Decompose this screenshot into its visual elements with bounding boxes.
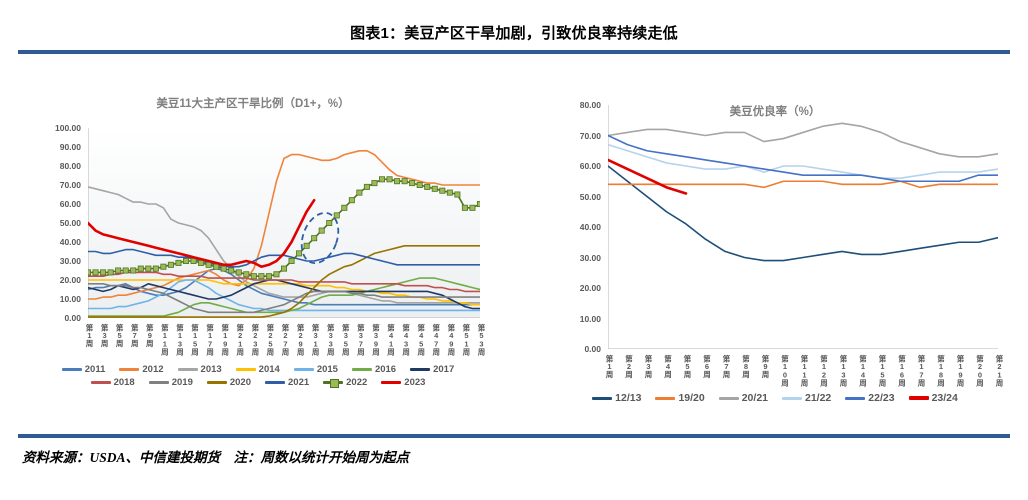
legend-item-2016[interactable]: 2016 xyxy=(352,364,396,375)
y-tick-label: 70.00 xyxy=(18,180,81,190)
legend-swatch-icon xyxy=(381,381,401,385)
x-tick-label: 第17周 xyxy=(916,355,927,386)
x-tick-label: 第3周 xyxy=(643,355,654,378)
y-tick-label: 0.00 xyxy=(540,344,601,354)
legend-item-2013[interactable]: 2013 xyxy=(178,364,222,375)
x-tick-label: 第5周 xyxy=(114,324,125,347)
legend-label: 2015 xyxy=(317,364,338,375)
legend-item-2011[interactable]: 2011 xyxy=(62,364,106,375)
x-tick-label: 第20周 xyxy=(975,355,986,386)
x-tick-label: 第18周 xyxy=(936,355,947,386)
source-note: 资料来源：USDA、中信建投期货 注：周数以统计开始周为起点 xyxy=(22,446,409,466)
y-tick-label: 80.00 xyxy=(540,100,601,110)
legend-label: 2016 xyxy=(375,364,396,375)
footer-divider xyxy=(18,434,1010,438)
x-tick-label: 第15周 xyxy=(877,355,888,386)
x-tick-label: 第37周 xyxy=(355,324,366,355)
y-tick-label: 90.00 xyxy=(18,142,81,152)
chart-good-excellent-rate: 美豆优良率（%） 0.0010.0020.0030.0040.0050.0060… xyxy=(540,95,1010,405)
y-tick-label: 10.00 xyxy=(18,294,81,304)
x-tick-label: 第21周 xyxy=(994,355,1005,386)
legend-item-2019[interactable]: 2019 xyxy=(149,377,193,388)
x-tick-label: 第13周 xyxy=(838,355,849,386)
title-divider-top xyxy=(18,50,1010,54)
x-tick-label: 第9周 xyxy=(144,324,155,347)
x-tick-label: 第13周 xyxy=(174,324,185,355)
x-tick-label: 第16周 xyxy=(897,355,908,386)
x-tick-label: 第6周 xyxy=(702,355,713,378)
y-tick-label: 40.00 xyxy=(540,222,601,232)
x-tick-label: 第11周 xyxy=(159,324,170,355)
y-tick-label: 30.00 xyxy=(540,253,601,263)
legend-swatch-icon xyxy=(352,368,372,371)
x-tick-label: 第8周 xyxy=(741,355,752,378)
figure-page: 图表1：美豆产区干旱加剧，引致优良率持续走低 美豆11大主产区干旱比例（D1+，… xyxy=(0,0,1028,500)
legend-label: 22/23 xyxy=(868,392,894,404)
legend-item-22-23[interactable]: 22/23 xyxy=(845,392,894,404)
x-tick-label: 第9周 xyxy=(760,355,771,378)
y-tick-label: 20.00 xyxy=(540,283,601,293)
legend-swatch-icon xyxy=(592,397,612,400)
x-tick-label: 第35周 xyxy=(340,324,351,355)
y-tick-label: 70.00 xyxy=(540,131,601,141)
legend-item-2018[interactable]: 2018 xyxy=(91,377,135,388)
y-tick-label: 10.00 xyxy=(540,314,601,324)
legend-swatch-icon xyxy=(91,381,111,384)
legend-swatch-icon xyxy=(207,381,227,384)
legend-label: 19/20 xyxy=(678,392,704,404)
x-tick-label: 第53周 xyxy=(476,324,487,355)
legend-label: 2019 xyxy=(172,377,193,388)
y-tick-label: 100.00 xyxy=(18,123,81,133)
x-tick-label: 第1周 xyxy=(84,324,95,347)
legend-label: 2021 xyxy=(288,377,309,388)
x-tick-label: 第23周 xyxy=(250,324,261,355)
page-title: 图表1：美豆产区干旱加剧，引致优良率持续走低 xyxy=(0,22,1028,43)
x-tick-label: 第17周 xyxy=(205,324,216,355)
legend-item-2021[interactable]: 2021 xyxy=(265,377,309,388)
x-tick-label: 第19周 xyxy=(955,355,966,386)
legend-label: 2011 xyxy=(85,364,106,375)
x-tick-label: 第25周 xyxy=(265,324,276,355)
chart-drought-ratio: 美豆11大主产区干旱比例（D1+，%） 0.0010.0020.0030.004… xyxy=(18,95,488,405)
legend-swatch-icon xyxy=(782,397,802,400)
x-tick-label: 第12周 xyxy=(819,355,830,386)
x-tick-label: 第27周 xyxy=(280,324,291,355)
x-tick-label: 第5周 xyxy=(682,355,693,378)
y-tick-label: 50.00 xyxy=(18,218,81,228)
x-tick-label: 第4周 xyxy=(663,355,674,378)
legend-swatch-icon xyxy=(410,368,430,371)
chart-right-legend: 12/1319/2020/2121/2222/2323/24 xyxy=(560,391,990,405)
x-tick-label: 第41周 xyxy=(386,324,397,355)
legend-item-2015[interactable]: 2015 xyxy=(294,364,338,375)
legend-item-12-13[interactable]: 12/13 xyxy=(592,392,641,404)
legend-item-2023[interactable]: 2023 xyxy=(381,377,425,388)
x-tick-label: 第15周 xyxy=(190,324,201,355)
x-tick-label: 第3周 xyxy=(99,324,110,347)
legend-swatch-icon xyxy=(178,368,198,371)
legend-swatch-icon xyxy=(909,396,929,400)
legend-item-23-24[interactable]: 23/24 xyxy=(909,392,958,404)
chart-left-legend: 2011201220132014201520162017201820192020… xyxy=(38,363,478,389)
legend-label: 20/21 xyxy=(742,392,768,404)
legend-swatch-icon xyxy=(845,397,865,400)
legend-swatch-icon xyxy=(265,381,285,384)
x-tick-label: 第7周 xyxy=(721,355,732,378)
legend-item-2020[interactable]: 2020 xyxy=(207,377,251,388)
legend-item-20-21[interactable]: 20/21 xyxy=(719,392,768,404)
legend-label: 12/13 xyxy=(615,392,641,404)
legend-swatch-icon xyxy=(119,368,139,371)
x-tick-label: 第2周 xyxy=(624,355,635,378)
legend-item-2017[interactable]: 2017 xyxy=(410,364,454,375)
legend-label: 21/22 xyxy=(805,392,831,404)
x-tick-label: 第47周 xyxy=(431,324,442,355)
legend-item-2022[interactable]: 2022 xyxy=(323,377,367,388)
x-tick-label: 第33周 xyxy=(325,324,336,355)
x-tick-label: 第1周 xyxy=(604,355,615,378)
legend-item-19-20[interactable]: 19/20 xyxy=(655,392,704,404)
legend-item-21-22[interactable]: 21/22 xyxy=(782,392,831,404)
legend-swatch-icon xyxy=(149,381,169,384)
legend-label: 2020 xyxy=(230,377,251,388)
y-tick-label: 40.00 xyxy=(18,237,81,247)
y-tick-label: 60.00 xyxy=(540,161,601,171)
x-tick-label: 第10周 xyxy=(780,355,791,386)
chart-left-title: 美豆11大主产区干旱比例（D1+，%） xyxy=(18,95,488,111)
chart-right-plot-area xyxy=(608,105,998,349)
x-tick-label: 第11周 xyxy=(799,355,810,386)
legend-swatch-icon xyxy=(655,397,675,400)
legend-item-2014[interactable]: 2014 xyxy=(236,364,280,375)
legend-swatch-icon xyxy=(323,381,343,384)
x-tick-label: 第14周 xyxy=(858,355,869,386)
legend-label: 2017 xyxy=(433,364,454,375)
y-tick-label: 60.00 xyxy=(18,199,81,209)
legend-item-2012[interactable]: 2012 xyxy=(119,364,163,375)
x-tick-label: 第51周 xyxy=(461,324,472,355)
legend-label: 2018 xyxy=(114,377,135,388)
y-tick-label: 30.00 xyxy=(18,256,81,266)
x-tick-label: 第21周 xyxy=(235,324,246,355)
legend-swatch-icon xyxy=(719,397,739,400)
legend-label: 2014 xyxy=(259,364,280,375)
legend-swatch-icon xyxy=(62,368,82,371)
legend-label: 2022 xyxy=(346,377,367,388)
x-tick-label: 第7周 xyxy=(129,324,140,347)
x-tick-label: 第19周 xyxy=(220,324,231,355)
y-tick-label: 20.00 xyxy=(18,275,81,285)
x-tick-label: 第31周 xyxy=(310,324,321,355)
legend-label: 2012 xyxy=(142,364,163,375)
legend-swatch-icon xyxy=(236,368,256,371)
y-tick-label: 50.00 xyxy=(540,192,601,202)
x-tick-label: 第49周 xyxy=(446,324,457,355)
y-tick-label: 80.00 xyxy=(18,161,81,171)
x-tick-label: 第29周 xyxy=(295,324,306,355)
x-tick-label: 第45周 xyxy=(416,324,427,355)
x-tick-label: 第43周 xyxy=(401,324,412,355)
legend-label: 2013 xyxy=(201,364,222,375)
chart-left-plot-area xyxy=(88,128,480,318)
legend-label: 2023 xyxy=(404,377,425,388)
legend-swatch-icon xyxy=(294,368,314,371)
x-tick-label: 第39周 xyxy=(370,324,381,355)
legend-label: 23/24 xyxy=(932,392,958,404)
y-tick-label: 0.00 xyxy=(18,313,81,323)
